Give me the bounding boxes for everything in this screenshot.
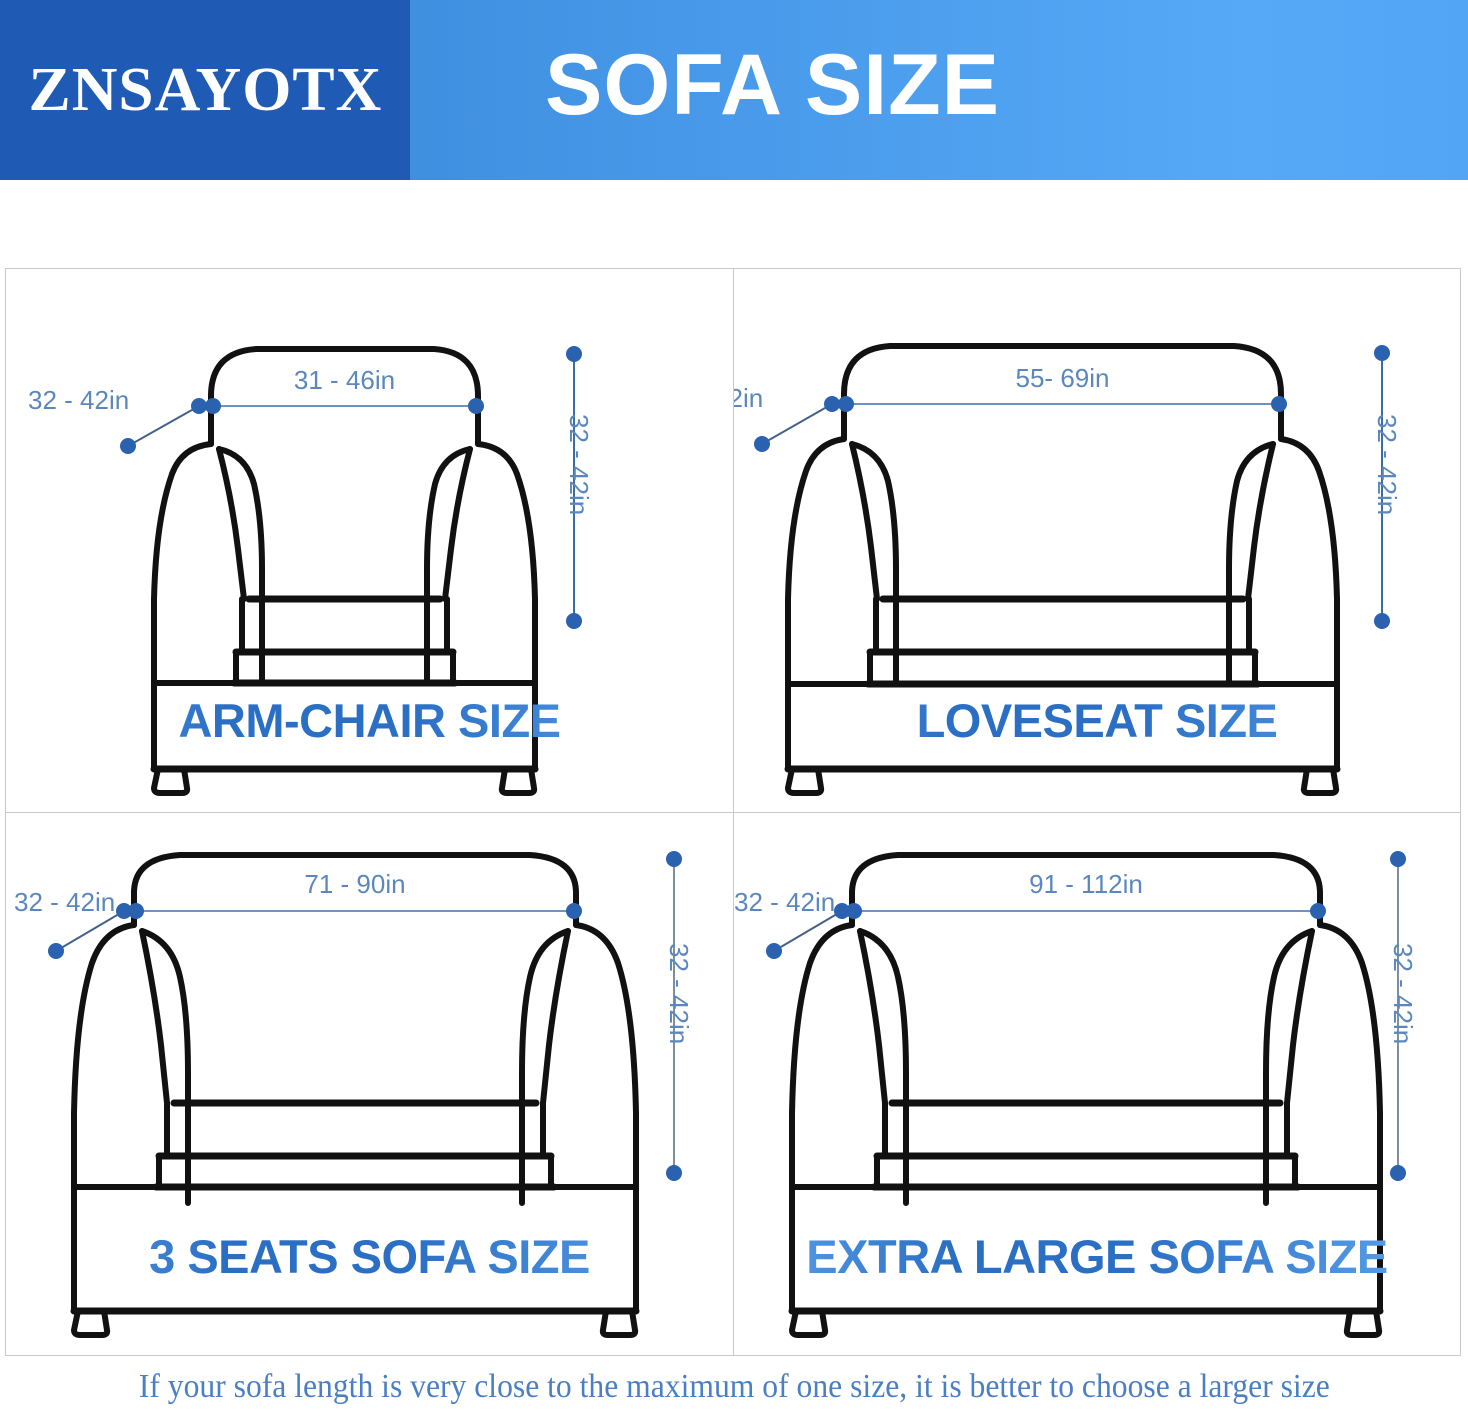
three-seats-sofa-height-label: 32 - 42in [663,943,694,1044]
page-header: ZNSAYOTX SOFA SIZE [0,0,1468,180]
arm-chair-height-label: 32 - 42in [563,414,594,515]
page-title: SOFA SIZE [545,36,1000,135]
loveseat-title: LOVESEAT SIZE [734,693,1460,748]
extra-large-sofa-height-label: 32 - 42in [1387,943,1418,1044]
three-seats-sofa-title: 3 SEATS SOFA SIZE [6,1229,733,1284]
size-cell-arm-chair: 31 - 46in 32 - 42in 32 - 42in ARM-CHAIR … [6,269,734,813]
extra-large-sofa-title: EXTRA LARGE SOFA SIZE [734,1229,1460,1284]
footer-note: If your sofa length is very close to the… [0,1368,1468,1406]
size-chart-grid: 31 - 46in 32 - 42in 32 - 42in ARM-CHAIR … [5,268,1461,1356]
size-cell-extra-large-sofa: 91 - 112in 32 - 42in 32 - 42in EXTRA LAR… [734,813,1460,1355]
brand-logo-block: ZNSAYOTX [0,0,410,180]
size-cell-three-seats-sofa: 71 - 90in 32 - 42in 32 - 42in 3 SEATS SO… [6,813,734,1355]
loveseat-height-label: 32 - 42in [1371,414,1402,515]
footer-note-text: If your sofa length is very close to the… [139,1368,1330,1406]
size-cell-loveseat: 55- 69in 32 - 42in 32 - 42in LOVESEAT SI… [734,269,1460,813]
arm-chair-title: ARM-CHAIR SIZE [6,693,733,748]
brand-logo-text: ZNSAYOTX [28,55,382,126]
